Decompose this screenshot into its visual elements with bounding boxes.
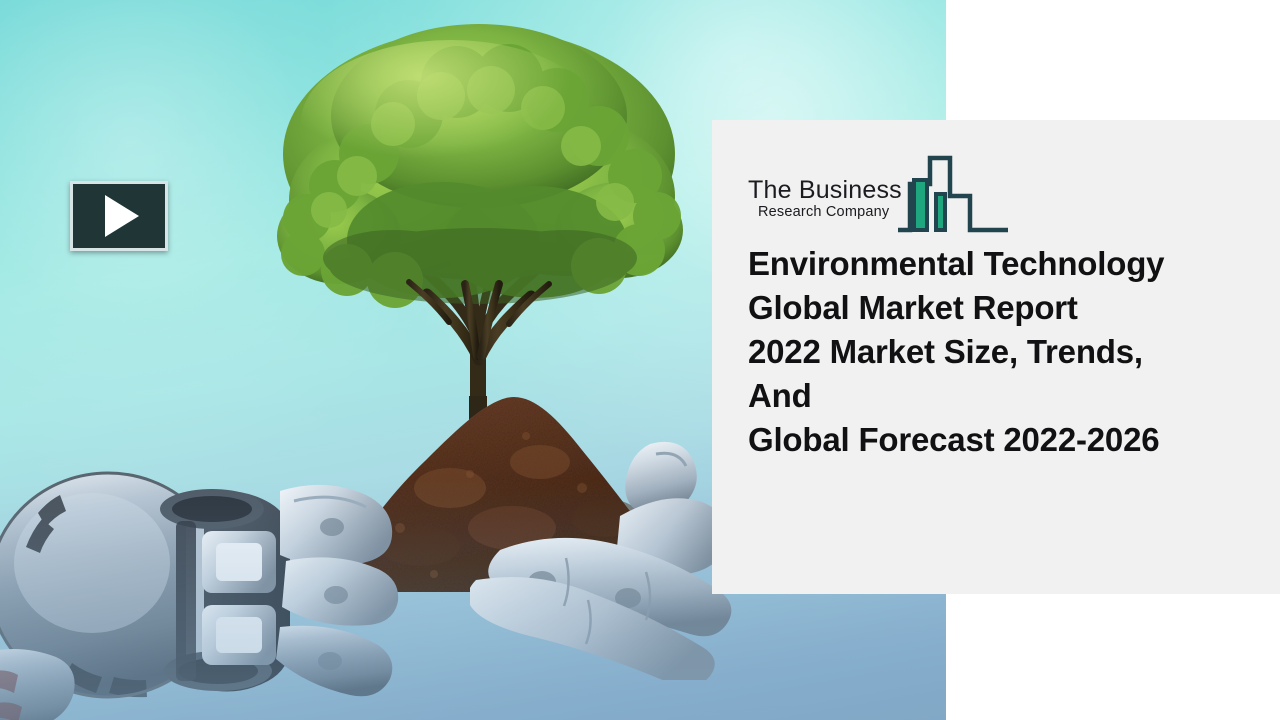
logo-line-secondary: Research Company [758,204,908,221]
report-title-line-2: Global Market Report [748,286,1268,330]
report-title-line-5: Global Forecast 2022-2026 [748,418,1268,462]
report-title: Environmental Technology Global Market R… [748,242,1268,462]
play-triangle-icon [105,195,139,237]
company-logo-text: The Business Research Company [748,178,908,221]
presentation-slide: The Business Research Company Environmen… [0,0,1280,720]
report-title-line-4: And [748,374,1268,418]
bar-chart-logo-icon [896,146,1026,236]
report-info-panel: The Business Research Company Environmen… [712,120,1280,594]
play-video-button[interactable] [70,181,168,251]
logo-line-primary: The Business [748,178,908,203]
company-logo: The Business Research Company [748,146,1026,238]
report-title-line-3: 2022 Market Size, Trends, [748,330,1268,374]
report-title-line-1: Environmental Technology [748,242,1268,286]
